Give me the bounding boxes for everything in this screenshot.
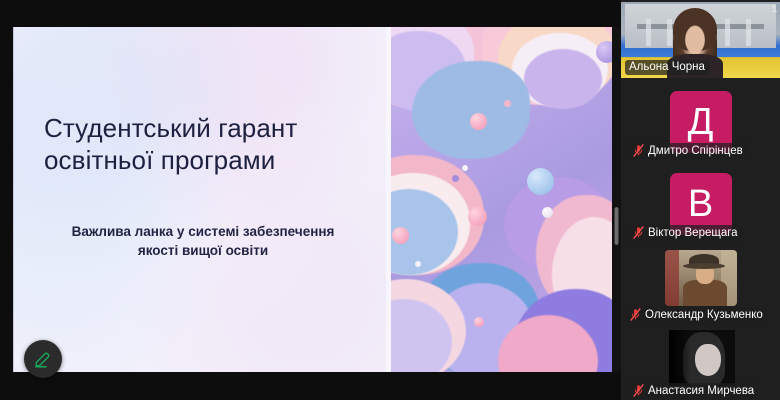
participant-tile[interactable]: Анастасия Мирчева	[621, 330, 780, 400]
participant-photo-frame[interactable]: Анастасия Мирчева	[621, 330, 780, 400]
participant-video-frame[interactable]: 1 Альона Чорна	[621, 2, 780, 78]
art-sphere	[474, 317, 484, 327]
slide-text-panel: Студентський гарант освітньої програми В…	[14, 27, 386, 372]
mic-muted-icon	[630, 308, 641, 321]
participant-profile-photo	[665, 250, 737, 306]
video-overlay-number: 1	[771, 4, 777, 15]
participant-name: Дмитро Спірінцев	[648, 145, 743, 157]
pencil-icon	[33, 349, 53, 369]
participant-nameplate: Віктор Верещага	[629, 225, 743, 241]
participant-tile[interactable]: В Віктор Верещага	[621, 166, 780, 242]
participant-tile[interactable]: Д Дмитро Спірінцев	[621, 84, 780, 160]
participant-name: Віктор Верещага	[648, 227, 738, 239]
participant-nameplate: Анастасия Мирчева	[629, 383, 759, 399]
participant-avatar-frame[interactable]: В Віктор Верещага	[621, 166, 780, 242]
art-sphere	[415, 261, 421, 267]
art-sphere	[470, 113, 487, 130]
annotate-pencil-button[interactable]	[24, 340, 62, 378]
art-sphere	[596, 41, 613, 63]
participant-avatar-frame[interactable]: Д Дмитро Спірінцев	[621, 84, 780, 160]
participant-nameplate: Альона Чорна	[625, 60, 710, 75]
artwork-left-edge	[386, 27, 391, 372]
participant-filmstrip[interactable]: 1 Альона Чорна Д Дмитро Спірінцев В	[621, 0, 780, 400]
participant-tile[interactable]: 1 Альона Чорна	[621, 2, 780, 78]
art-sphere	[542, 207, 553, 218]
participant-photo-frame[interactable]: Олександр Кузьменко	[621, 248, 780, 324]
mic-muted-icon	[633, 384, 644, 397]
participant-name: Анастасия Мирчева	[648, 385, 754, 397]
art-sphere	[452, 175, 459, 182]
slide-decorative-artwork	[386, 27, 613, 372]
participant-nameplate: Олександр Кузьменко	[626, 307, 768, 323]
art-blob	[524, 49, 602, 109]
slide-subtitle: Важлива ланка у системі забезпечення яко…	[38, 223, 368, 260]
art-blob	[412, 61, 530, 159]
participant-nameplate: Дмитро Спірінцев	[629, 143, 748, 159]
mic-muted-icon	[633, 226, 644, 239]
stage-scrollbar-thumb[interactable]	[614, 207, 619, 245]
portrait-hair	[673, 8, 717, 51]
participant-name: Олександр Кузьменко	[645, 309, 763, 321]
art-sphere	[504, 100, 511, 107]
participant-name: Альона Чорна	[629, 61, 705, 73]
participant-profile-photo	[669, 330, 735, 386]
art-sphere	[462, 165, 468, 171]
presentation-slide[interactable]: Студентський гарант освітньої програми В…	[13, 27, 613, 372]
participant-tile[interactable]: Олександр Кузьменко	[621, 248, 780, 324]
slide-title: Студентський гарант освітньої програми	[44, 113, 364, 176]
stage-scrollbar[interactable]	[612, 27, 621, 372]
mic-muted-icon	[633, 144, 644, 157]
art-sphere	[392, 227, 409, 244]
art-sphere	[468, 207, 487, 226]
art-sphere	[527, 168, 554, 195]
shared-screen-stage[interactable]: Студентський гарант освітньої програми В…	[0, 0, 621, 400]
